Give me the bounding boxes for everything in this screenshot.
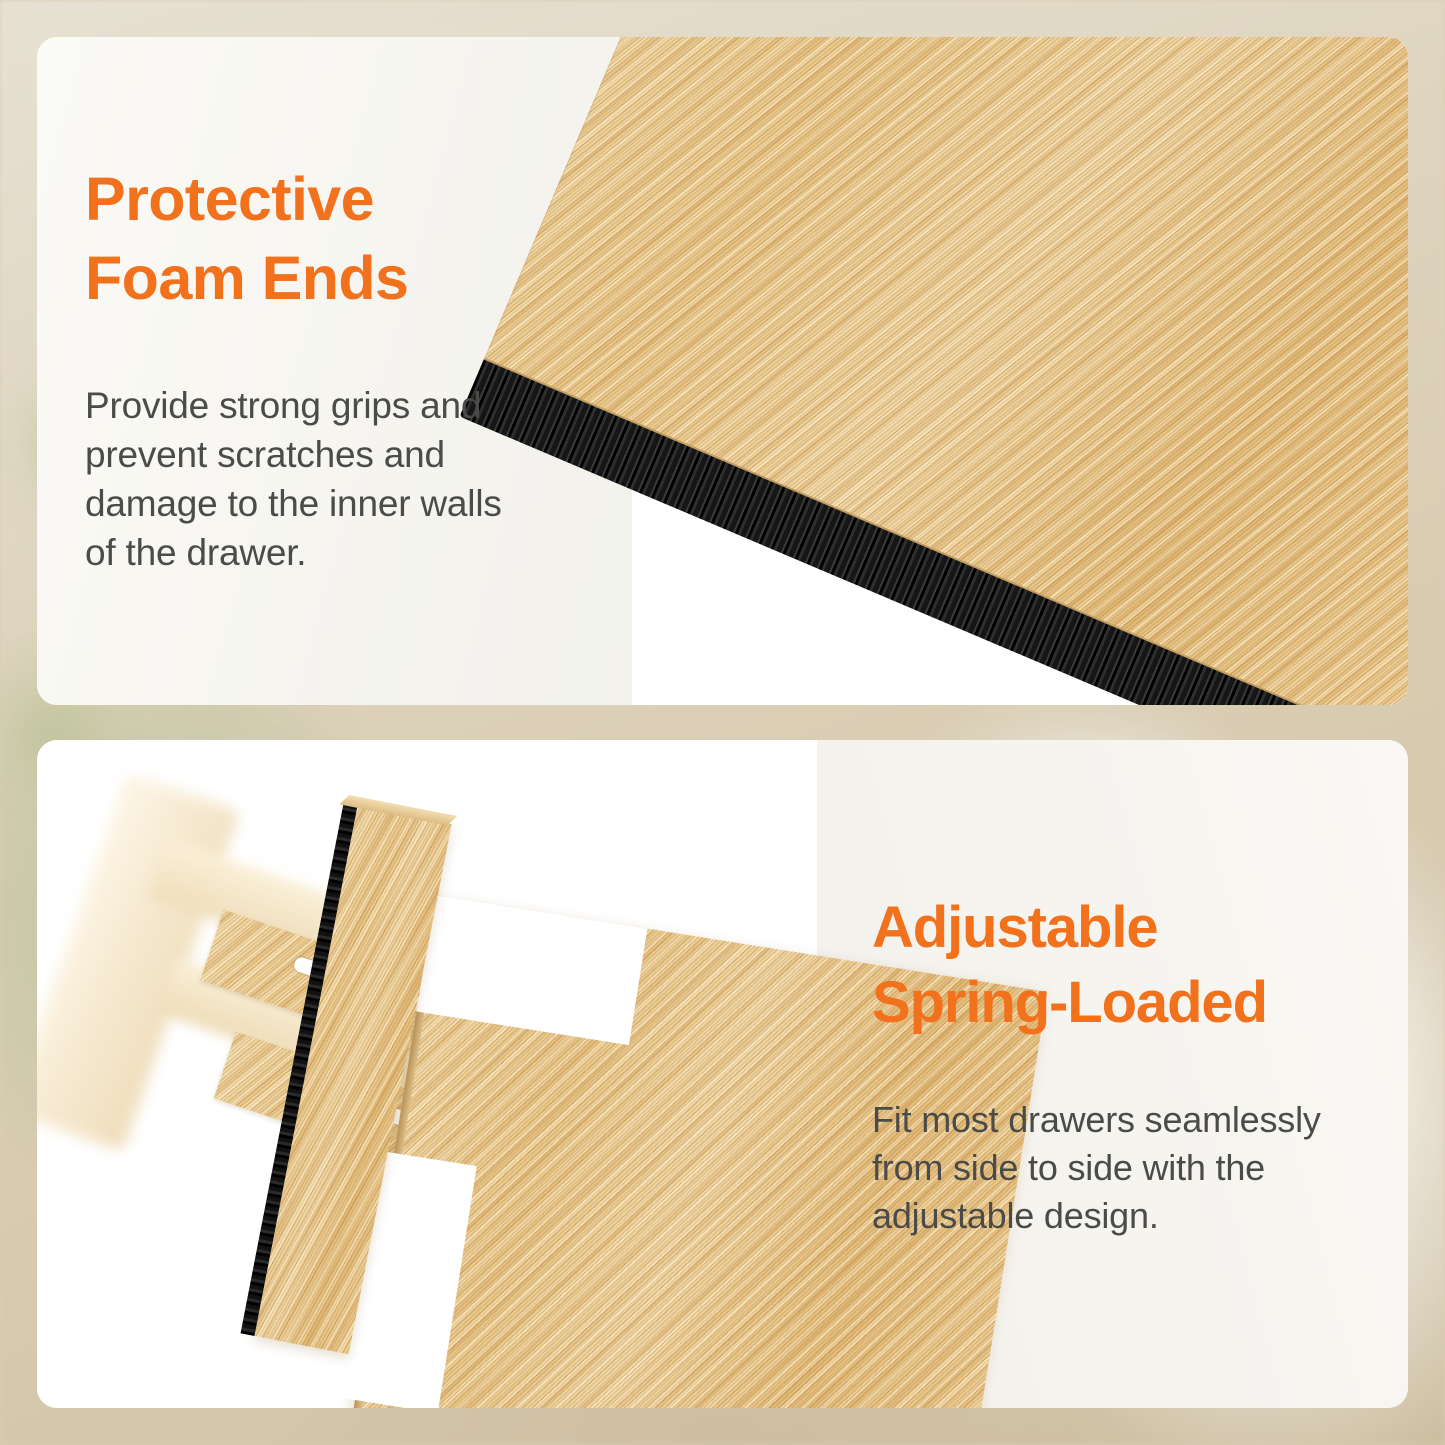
adjustable-divider-assembly [37,740,817,1408]
feature-body-protective-foam-ends: Provide strong grips and prevent scratch… [85,381,585,578]
divider-top-cap [339,795,457,825]
feature-headline-protective-foam-ends: Protective Foam Ends [85,160,585,319]
feature-body-adjustable-spring-loaded: Fit most drawers seamlessly from side to… [872,1096,1377,1240]
product-feature-infographic: Protective Foam Ends Provide strong grip… [0,0,1445,1445]
feature-text-protective-foam-ends: Protective Foam Ends Provide strong grip… [85,160,585,577]
feature-card-bottom-photo-panel [37,740,817,1408]
feature-headline-adjustable-spring-loaded: Adjustable Spring-Loaded [872,890,1377,1041]
feature-text-adjustable-spring-loaded: Adjustable Spring-Loaded Fit most drawer… [872,890,1377,1239]
feature-card-top-photo-panel [632,37,1408,705]
